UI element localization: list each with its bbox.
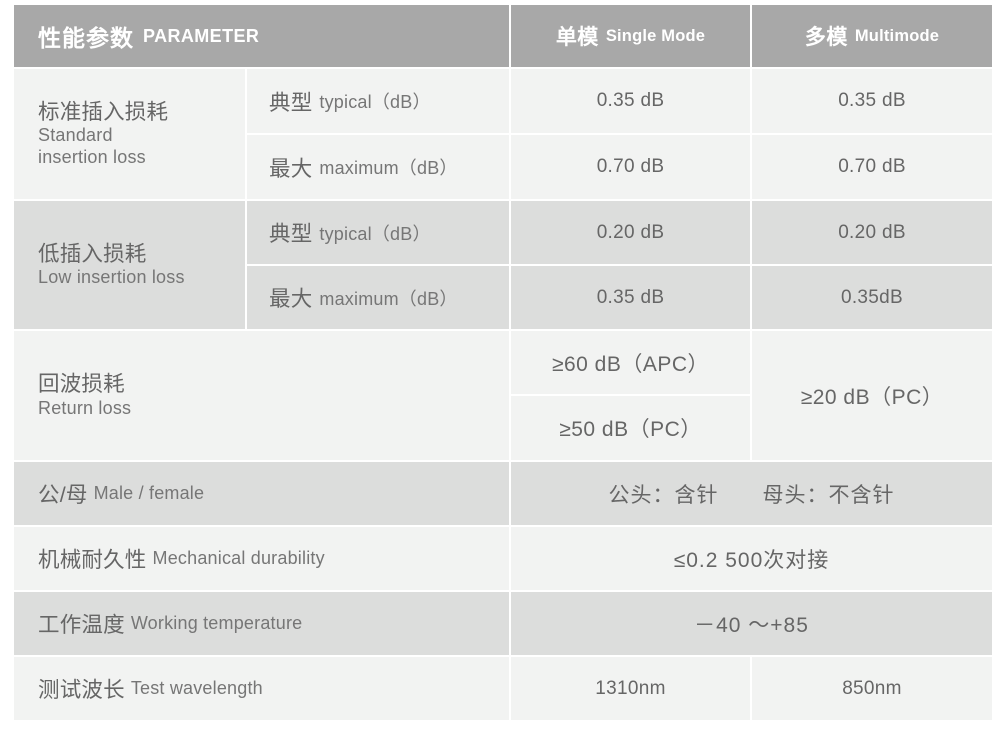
value-test-wavelength-single: 1310nm: [511, 657, 750, 720]
value-working-temperature: －40 ～+85: [511, 592, 992, 655]
row-label-return-loss: 回波损耗 Return loss: [14, 331, 509, 460]
label-standard-en-line1: Standard: [38, 125, 113, 146]
value-low-maximum-multi: 0.35dB: [752, 266, 992, 329]
row-label-male-female: 公/母 Male / female: [14, 462, 509, 525]
header-multi-en: Multimode: [855, 27, 939, 46]
header-single-cn: 单模: [556, 21, 599, 51]
header-parameter-en: PARAMETER: [143, 26, 259, 47]
sub-label-maximum-low: 最大 maximum（dB）: [247, 266, 509, 329]
label-standard-cn: 标准插入损耗: [38, 100, 168, 125]
label-test-wavelength-en: Test wavelength: [131, 678, 263, 699]
label-male-female-cn: 公/母: [38, 478, 88, 509]
header-multi-cn: 多模: [805, 21, 848, 51]
value-low-typical-single: 0.20 dB: [511, 201, 750, 264]
sub-typical-low-en: typical（dB）: [319, 220, 430, 246]
sub-maximum-cn: 最大: [269, 152, 312, 183]
sub-maximum-low-cn: 最大: [269, 282, 312, 313]
sub-typical-en: typical（dB）: [319, 88, 430, 114]
header-single-en: Single Mode: [606, 27, 705, 46]
value-return-loss-single-pc: ≥50 dB（PC）: [511, 396, 750, 460]
label-return-cn: 回波损耗: [38, 372, 125, 397]
row-label-working-temperature: 工作温度 Working temperature: [14, 592, 509, 655]
row-label-standard-insertion-loss: 标准插入损耗 Standard insertion loss: [14, 69, 245, 199]
value-test-wavelength-multi: 850nm: [752, 657, 992, 720]
header-cell-single-mode: 单模 Single Mode: [511, 5, 750, 67]
header-parameter-cn: 性能参数: [38, 19, 134, 53]
sub-label-maximum-standard: 最大 maximum（dB）: [247, 135, 509, 199]
value-mechanical-durability: ≤0.2 500次对接: [511, 527, 992, 590]
value-male-female: 公头：含针 母头：不含针: [511, 462, 992, 525]
sub-label-typical-low: 典型 typical（dB）: [247, 201, 509, 264]
row-label-mechanical-durability: 机械耐久性 Mechanical durability: [14, 527, 509, 590]
row-label-low-insertion-loss: 低插入损耗 Low insertion loss: [14, 201, 245, 329]
label-return-en: Return loss: [38, 398, 131, 419]
row-label-test-wavelength: 测试波长 Test wavelength: [14, 657, 509, 720]
value-standard-typical-single: 0.35 dB: [511, 69, 750, 133]
label-standard-en-line2: insertion loss: [38, 147, 146, 168]
sub-label-typical-standard: 典型 typical（dB）: [247, 69, 509, 133]
value-standard-typical-multi: 0.35 dB: [752, 69, 992, 133]
value-low-maximum-single: 0.35 dB: [511, 266, 750, 329]
value-standard-maximum-multi: 0.70 dB: [752, 135, 992, 199]
label-low-en-line1: Low insertion loss: [38, 267, 185, 288]
sub-maximum-en: maximum（dB）: [319, 154, 457, 180]
label-test-wavelength-cn: 测试波长: [38, 673, 125, 704]
label-mechanical-en: Mechanical durability: [153, 548, 325, 569]
label-low-cn: 低插入损耗: [38, 242, 147, 267]
sub-typical-cn: 典型: [269, 86, 312, 117]
label-working-temp-cn: 工作温度: [38, 608, 125, 639]
header-cell-parameter: 性能参数 PARAMETER: [14, 5, 509, 67]
label-working-temp-en: Working temperature: [131, 613, 303, 634]
value-return-loss-multi-pc: ≥20 dB（PC）: [752, 331, 992, 460]
value-return-loss-single-apc: ≥60 dB（APC）: [511, 331, 750, 394]
sub-maximum-low-en: maximum（dB）: [319, 285, 457, 311]
label-male-female-en: Male / female: [94, 483, 205, 504]
value-standard-maximum-single: 0.70 dB: [511, 135, 750, 199]
sub-typical-low-cn: 典型: [269, 217, 312, 248]
header-cell-multimode: 多模 Multimode: [752, 5, 992, 67]
value-low-typical-multi: 0.20 dB: [752, 201, 992, 264]
spec-table-container: 性能参数 PARAMETER 单模 Single Mode 多模 Multimo…: [0, 0, 1007, 737]
label-mechanical-cn: 机械耐久性: [38, 543, 147, 574]
